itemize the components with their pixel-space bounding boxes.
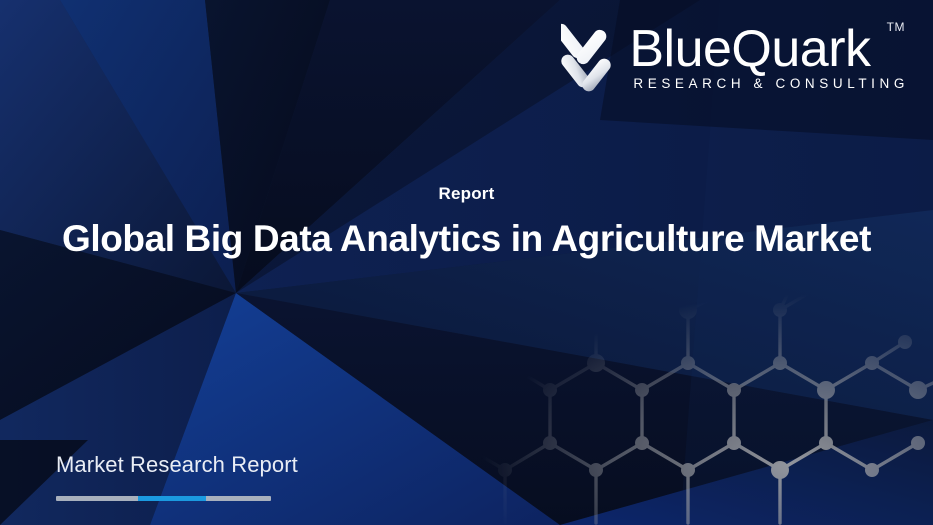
footer-label: Market Research Report	[56, 452, 298, 478]
page-title: Global Big Data Analytics in Agriculture…	[0, 218, 933, 260]
footer-block: Market Research Report	[56, 452, 298, 501]
trademark-symbol: TM	[887, 20, 905, 34]
segment-left	[56, 496, 138, 501]
segment-active	[138, 496, 207, 501]
logo-text-group: BlueQuark RESEARCH & CONSULTING	[629, 24, 909, 91]
bluequark-chevron-icon	[561, 18, 623, 102]
logo-tagline: RESEARCH & CONSULTING	[633, 76, 909, 91]
title-block: Report Global Big Data Analytics in Agri…	[0, 184, 933, 260]
brand-logo: BlueQuark RESEARCH & CONSULTING TM	[561, 12, 909, 104]
segment-right	[206, 496, 271, 501]
logo-wordmark: BlueQuark	[629, 24, 909, 75]
accent-progress-bar	[56, 496, 271, 501]
report-kicker-label: Report	[0, 184, 933, 204]
report-cover-page: BlueQuark RESEARCH & CONSULTING TM Repor…	[0, 0, 933, 525]
